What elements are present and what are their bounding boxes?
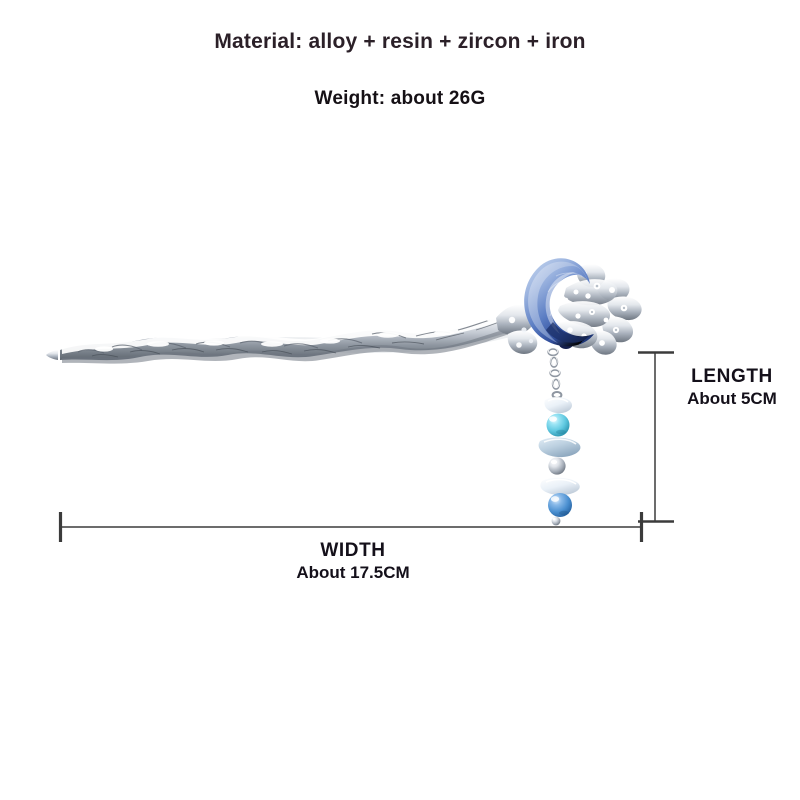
width-dimension-line <box>60 512 642 542</box>
bead-tassel <box>539 348 581 526</box>
hairpin-stick <box>46 307 528 364</box>
width-dimension-label: WIDTH About 17.5CM <box>233 540 473 584</box>
width-title: WIDTH <box>233 540 473 562</box>
material-spec-text: Material: alloy + resin + zircon + iron <box>0 30 800 54</box>
length-title: LENGTH <box>672 366 792 388</box>
length-dimension-label: LENGTH About 5CM <box>672 366 792 410</box>
width-value: About 17.5CM <box>233 562 473 584</box>
length-dimension-line <box>638 352 674 522</box>
length-value: About 5CM <box>672 388 792 410</box>
weight-spec-text: Weight: about 26G <box>0 88 800 110</box>
